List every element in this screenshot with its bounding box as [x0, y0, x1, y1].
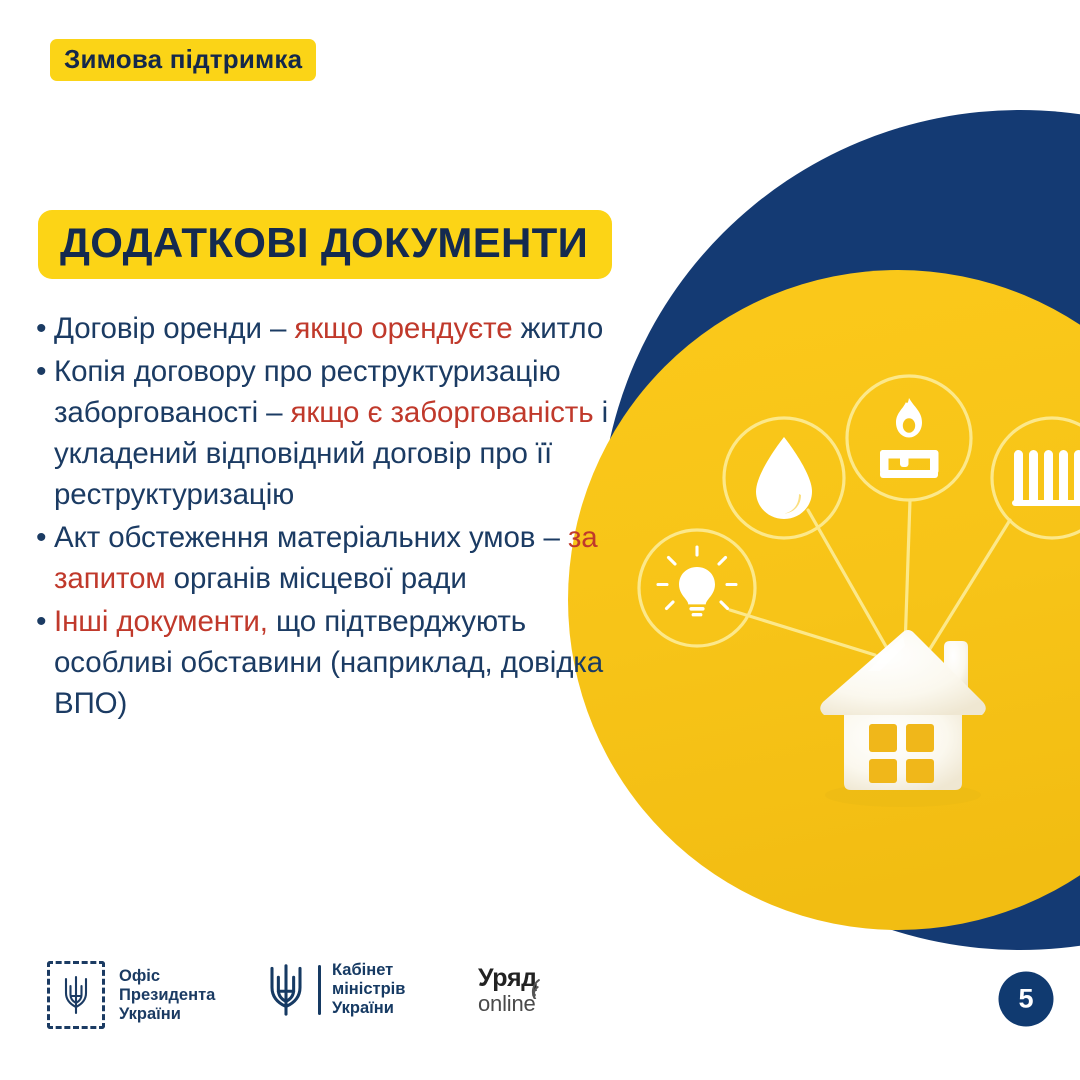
wifi-signal-icon	[531, 979, 553, 999]
page-number: 5	[1018, 984, 1033, 1015]
logo-text: Офіс Президента України	[119, 967, 215, 1024]
eyebrow-badge: Зимова підтримка	[50, 39, 316, 81]
logo-cabinet-of-ministers: Кабінет міністрів України	[265, 961, 405, 1018]
ornamental-frame	[47, 961, 105, 1029]
water-drop-icon	[756, 437, 812, 519]
page-title: ДОДАТКОВІ ДОКУМЕНТИ	[60, 219, 588, 266]
connector-lines	[730, 500, 1010, 655]
list-item-text: Договір оренди – якщо орендуєте житло	[54, 308, 636, 349]
logo-line: online	[478, 991, 536, 1016]
logo-text: Кабінет міністрів України	[332, 961, 405, 1018]
logo-line-wrapper: online	[478, 992, 537, 1016]
house-windows	[869, 724, 934, 783]
slide-root: Зимова підтримка ДОДАТКОВІ ДОКУМЕНТИ •До…	[0, 0, 1080, 1080]
highlighted-text: якщо є заборгованість	[291, 396, 594, 429]
list-item: •Договір оренди – якщо орендуєте житло	[36, 308, 636, 349]
eyebrow-label: Зимова підтримка	[64, 44, 302, 74]
radiator-icon	[1012, 450, 1080, 506]
list-item-text: Копія договору про реструктуризацію забо…	[54, 351, 636, 515]
bullet-marker: •	[36, 517, 54, 558]
yellow-background-circle	[568, 270, 1080, 930]
burner-icon	[880, 450, 939, 478]
list-item-text: Акт обстеження матеріальних умов – за за…	[54, 517, 636, 599]
ukrainian-trident-icon	[61, 973, 91, 1017]
documents-list: •Договір оренди – якщо орендуєте житло•К…	[36, 308, 636, 726]
water-drop-icon-circle	[724, 418, 844, 538]
logo-line: міністрів	[332, 980, 405, 999]
plain-text: Акт обстеження матеріальних умов –	[54, 521, 568, 554]
bullet-marker: •	[36, 351, 54, 392]
list-item: •Акт обстеження матеріальних умов – за з…	[36, 517, 636, 599]
ukrainian-trident-icon	[265, 962, 307, 1018]
logo-line: Офіс	[119, 967, 215, 986]
list-item: •Інші документи, що підтверджують особли…	[36, 601, 636, 724]
list-item-text: Інші документи, що підтверджують особлив…	[54, 601, 636, 724]
lightbulb-icon-circle	[639, 530, 755, 646]
bullet-marker: •	[36, 601, 54, 642]
bullet-marker: •	[36, 308, 54, 349]
highlighted-text: Інші документи,	[54, 605, 268, 638]
logo-uryad-online: Уряд online	[478, 965, 537, 1016]
logo-office-of-the-president: Офіс Президента України	[47, 961, 215, 1029]
plain-text: житло	[513, 312, 604, 345]
plain-text: Договір оренди –	[54, 312, 294, 345]
logo-line: Президента	[119, 986, 215, 1005]
navy-background-circle	[600, 110, 1080, 950]
gas-flame-icon	[896, 398, 922, 438]
gas-flame-icon-circle	[847, 376, 971, 500]
logo-line: Кабінет	[332, 961, 405, 980]
logo-divider	[318, 965, 321, 1015]
logo-line: України	[119, 1005, 215, 1024]
house-illustration	[820, 630, 986, 807]
page-title-band: ДОДАТКОВІ ДОКУМЕНТИ	[38, 210, 612, 279]
logo-line: Уряд	[478, 965, 537, 991]
list-item: •Копія договору про реструктуризацію заб…	[36, 351, 636, 515]
plain-text: органів місцевої ради	[166, 562, 467, 595]
highlighted-text: якщо орендуєте	[294, 312, 512, 345]
logo-line: України	[332, 999, 405, 1018]
footer-logos: Офіс Президента України Кабінет м	[0, 945, 1080, 1055]
radiator-icon-circle	[992, 418, 1080, 538]
page-number-badge: 5	[999, 972, 1054, 1027]
